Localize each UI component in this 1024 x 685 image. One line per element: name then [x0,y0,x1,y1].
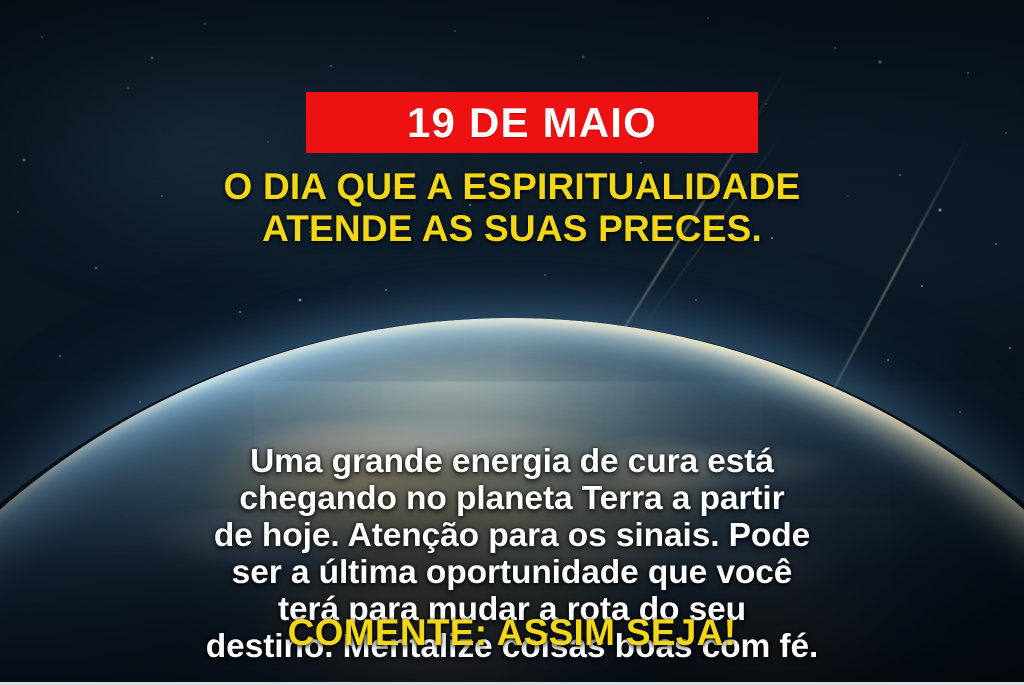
poster-canvas: 19 DE MAIO O DIA QUE A ESPIRITUALIDADE A… [0,0,1024,685]
body-line-4: ser a última oportunidade que você [40,554,984,591]
body-line-3: de hoje. Atenção para os sinais. Pode [40,517,984,554]
date-banner: 19 DE MAIO [306,92,758,153]
page-title: O DIA QUE A ESPIRITUALIDADE ATENDE AS SU… [0,166,1024,250]
date-banner-text: 19 DE MAIO [407,102,657,144]
body-line-1: Uma grande energia de cura está [40,443,984,480]
body-line-2: chegando no planeta Terra a partir [40,480,984,517]
headline-line-2: ATENDE AS SUAS PRECES. [0,208,1024,250]
poster-content: 19 DE MAIO O DIA QUE A ESPIRITUALIDADE A… [0,0,1024,685]
headline-line-1: O DIA QUE A ESPIRITUALIDADE [0,166,1024,208]
call-to-action-text: COMENTE: ASSIM SEJA! [0,612,1024,654]
